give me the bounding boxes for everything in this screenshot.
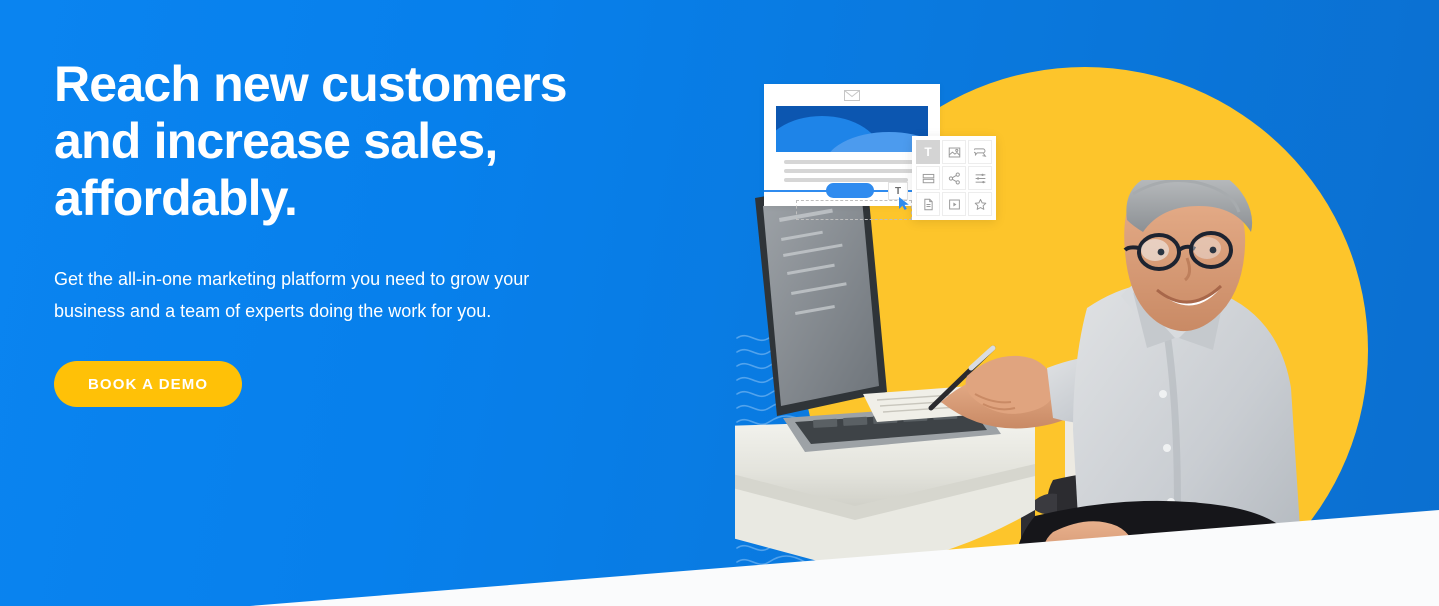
favorite-tool-button[interactable]	[968, 192, 992, 216]
image-tool-button[interactable]	[942, 140, 966, 164]
hero-subheadline: Get the all-in-one marketing platform yo…	[54, 263, 614, 327]
video-icon	[948, 198, 961, 211]
photo-man-at-desk	[735, 180, 1439, 606]
document-icon	[922, 198, 935, 211]
list-settings-icon	[974, 172, 987, 185]
cursor-arrow-icon	[898, 196, 910, 211]
list-tool-button[interactable]	[968, 166, 992, 190]
text-icon: T	[924, 145, 931, 159]
split-layout-icon	[922, 172, 935, 185]
image-icon	[948, 146, 961, 159]
split-tool-button[interactable]	[916, 166, 940, 190]
envelope-icon	[844, 90, 860, 101]
share-icon	[948, 172, 961, 185]
text-line	[784, 169, 920, 173]
tag-tool-button[interactable]	[968, 140, 992, 164]
star-icon	[974, 198, 987, 211]
banner-image-block	[776, 106, 928, 152]
hero-copy: Reach new customers and increase sales, …	[54, 56, 674, 407]
document-tool-button[interactable]	[916, 192, 940, 216]
text-line	[784, 160, 920, 164]
share-tool-button[interactable]	[942, 166, 966, 190]
video-tool-button[interactable]	[942, 192, 966, 216]
hero-section: T T	[0, 0, 1439, 606]
page-title: Reach new customers and increase sales, …	[54, 56, 674, 227]
dashed-drop-zone[interactable]	[796, 200, 912, 220]
book-a-demo-button[interactable]: BOOK A DEMO	[54, 361, 242, 407]
block-picker-toolbar[interactable]: T	[912, 136, 996, 220]
button-block[interactable]	[826, 183, 874, 198]
speech-tag-icon	[974, 146, 987, 159]
text-tool-button[interactable]: T	[916, 140, 940, 164]
